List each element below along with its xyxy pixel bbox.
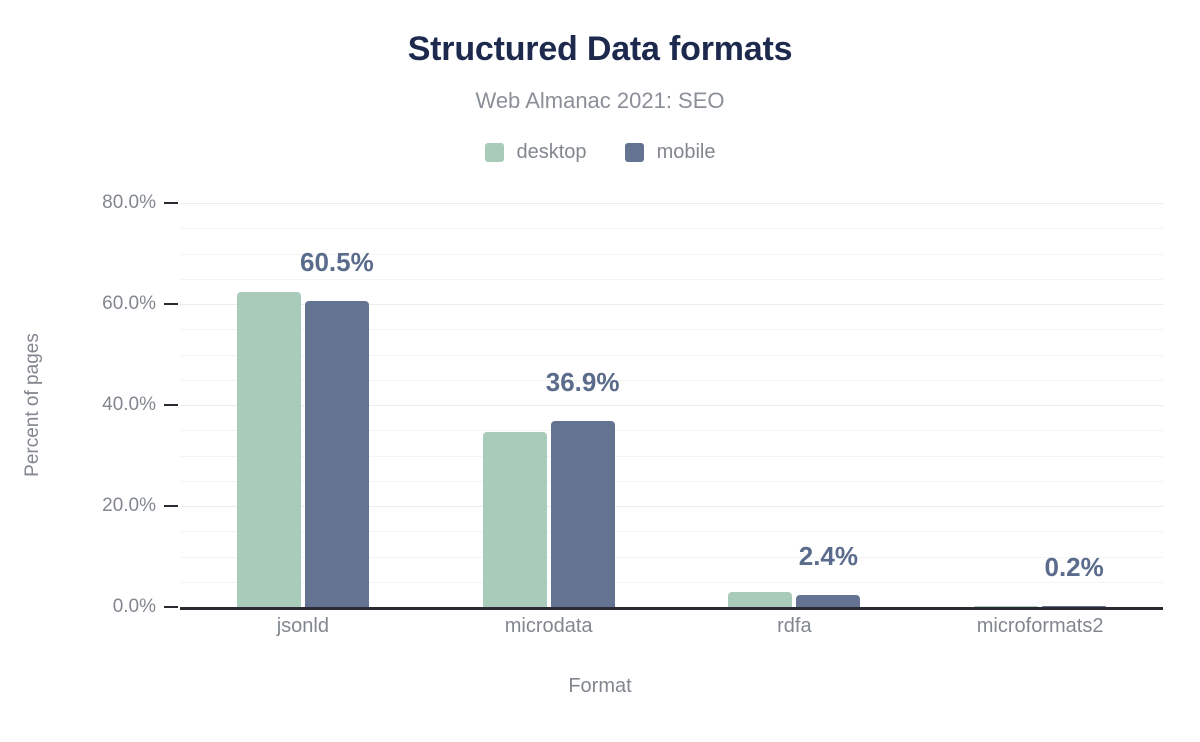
chart-subtitle: Web Almanac 2021: SEO	[0, 88, 1200, 114]
y-axis-tick-label: 0.0%	[113, 596, 156, 618]
y-axis-tick-mark	[164, 505, 178, 507]
y-axis-tick-label: 80.0%	[102, 192, 156, 214]
x-axis-tick-microformats2: microformats2	[977, 615, 1104, 638]
x-axis-line	[180, 607, 1163, 610]
bar-chart: Structured Data formats Web Almanac 2021…	[0, 0, 1200, 742]
legend-swatch-mobile	[625, 143, 644, 162]
x-axis-tick-rdfa: rdfa	[777, 615, 811, 638]
data-label-jsonld: 60.5%	[300, 247, 374, 278]
y-axis-tick-label: 40.0%	[102, 394, 156, 416]
bar-jsonld-mobile[interactable]	[305, 301, 369, 607]
gridline	[180, 203, 1163, 204]
y-axis-title: Percent of pages	[22, 333, 44, 477]
x-axis-tick-jsonld: jsonld	[277, 615, 329, 638]
bar-rdfa-desktop[interactable]	[728, 592, 792, 607]
data-label-rdfa: 2.4%	[799, 541, 858, 572]
y-axis-tick-mark	[164, 202, 178, 204]
bar-jsonld-desktop[interactable]	[237, 292, 301, 607]
gridline	[180, 279, 1163, 280]
x-axis-tick-microdata: microdata	[505, 615, 593, 638]
legend-label-desktop: desktop	[517, 141, 587, 164]
gridline	[180, 228, 1163, 229]
chart-title: Structured Data formats	[0, 30, 1200, 69]
bar-microdata-mobile[interactable]	[551, 421, 615, 607]
y-axis-tick-mark	[164, 606, 178, 608]
x-axis-title: Format	[0, 675, 1200, 698]
legend-item-mobile[interactable]: mobile	[625, 141, 716, 164]
bar-rdfa-mobile[interactable]	[796, 595, 860, 607]
y-axis-tick-label: 20.0%	[102, 495, 156, 517]
plot-area: 0.0%20.0%40.0%60.0%80.0% 60.5%36.9%2.4%0…	[180, 203, 1163, 607]
chart-legend: desktop mobile	[0, 141, 1200, 164]
data-label-microdata: 36.9%	[546, 367, 620, 398]
bar-microdata-desktop[interactable]	[483, 432, 547, 607]
y-axis-tick-mark	[164, 303, 178, 305]
y-axis-tick-mark	[164, 404, 178, 406]
data-label-microformats2: 0.2%	[1044, 552, 1103, 583]
legend-item-desktop[interactable]: desktop	[485, 141, 587, 164]
legend-label-mobile: mobile	[657, 141, 716, 164]
y-axis-tick-label: 60.0%	[102, 293, 156, 315]
legend-swatch-desktop	[485, 143, 504, 162]
